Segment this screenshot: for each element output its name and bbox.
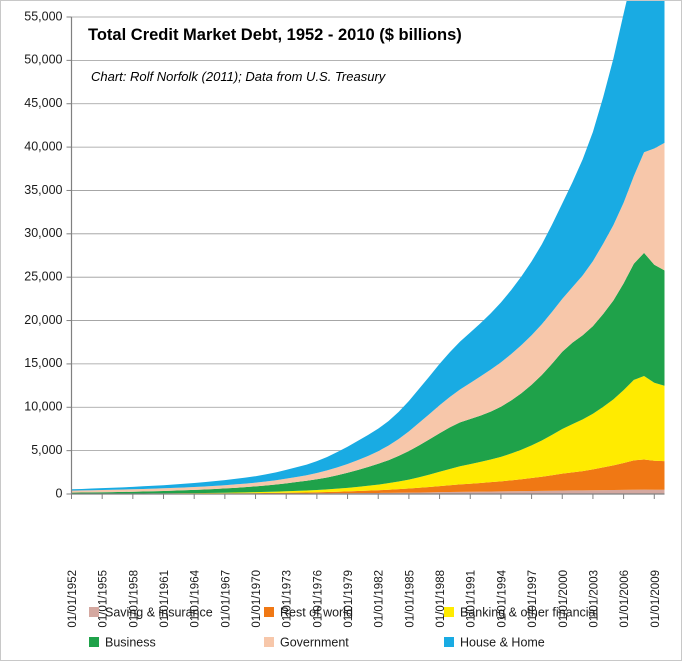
y-tick-label: 35,000 [24,183,62,197]
chart-container: 05,00010,00015,00020,00025,00030,00035,0… [0,0,682,661]
y-axis-tick-labels: 05,00010,00015,00020,00025,00030,00035,0… [24,9,71,500]
legend-swatch [89,607,99,617]
y-tick-label: 20,000 [24,313,62,327]
legend-swatch [89,637,99,647]
x-tick-label: 01/01/1967 [220,570,232,628]
y-tick-label: 55,000 [24,9,62,23]
y-tick-label: 15,000 [24,356,62,370]
legend-label: Government [280,635,349,649]
legend-swatch [444,607,454,617]
legend-label: Banking & other financial [460,605,598,619]
x-tick-label: 01/01/2009 [650,570,662,628]
x-tick-label: 01/01/2006 [619,570,631,628]
y-tick-label: 25,000 [24,269,62,283]
legend-label: Saving & insurance [105,605,213,619]
y-tick-label: 10,000 [24,400,62,414]
stacked-area-chart: 05,00010,00015,00020,00025,00030,00035,0… [1,1,682,662]
x-tick-label: 01/01/1970 [251,570,263,628]
legend-label: Business [105,635,156,649]
y-tick-label: 50,000 [24,53,62,67]
chart-subtitle: Chart: Rolf Norfolk (2011); Data from U.… [91,69,387,84]
chart-title: Total Credit Market Debt, 1952 - 2010 ($… [88,26,462,44]
x-tick-label: 01/01/1988 [435,570,447,628]
legend-swatch [264,607,274,617]
y-tick-label: 40,000 [24,139,62,153]
legend-label: Rest of world [280,605,353,619]
legend-swatch [264,637,274,647]
x-tick-label: 01/01/1982 [374,570,386,628]
legend-swatch [444,637,454,647]
y-tick-label: 45,000 [24,96,62,110]
y-tick-label: 0 [56,486,63,500]
x-tick-label: 01/01/1985 [404,570,416,628]
legend-label: House & Home [460,635,545,649]
y-tick-label: 30,000 [24,226,62,240]
y-tick-label: 5,000 [31,443,62,457]
x-tick-label: 01/01/1952 [67,570,79,628]
